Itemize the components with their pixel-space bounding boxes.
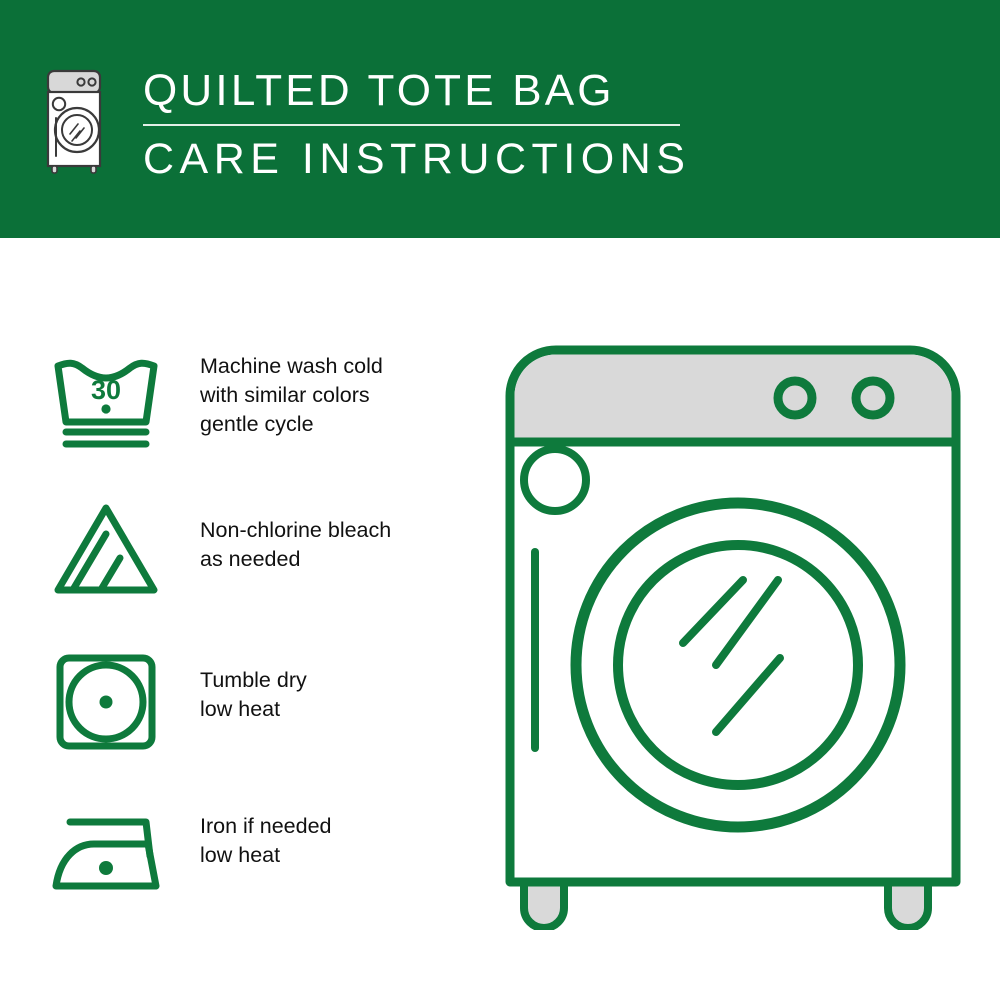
care-row-tumble-dry: Tumble dry low heat: [0, 646, 470, 796]
care-label-machine-wash: Machine wash cold with similar colors ge…: [200, 352, 383, 439]
wash-tub-30-icon: 30: [50, 348, 162, 460]
washing-machine-icon: [45, 68, 103, 174]
care-row-bleach: Non-chlorine bleach as needed: [0, 496, 470, 646]
page-subtitle: CARE INSTRUCTIONS: [143, 134, 703, 184]
tumble-dry-low-icon: [50, 646, 162, 758]
header-banner: QUILTED TOTE BAG CARE INSTRUCTIONS: [0, 0, 1000, 238]
care-instruction-list: 30 Machine wash cold with similar colors…: [0, 238, 470, 1000]
page-title: QUILTED TOTE BAG: [143, 66, 703, 116]
care-row-iron: Iron if needed low heat: [0, 794, 470, 944]
header-title-block: QUILTED TOTE BAG CARE INSTRUCTIONS: [143, 66, 703, 184]
wash-temperature-value: 30: [91, 375, 121, 405]
care-label-iron: Iron if needed low heat: [200, 812, 332, 870]
bleach-triangle-icon: [50, 496, 162, 608]
care-label-tumble-dry: Tumble dry low heat: [200, 666, 307, 724]
care-label-bleach: Non-chlorine bleach as needed: [200, 516, 391, 574]
iron-low-heat-icon: [50, 794, 162, 906]
title-divider: [143, 124, 680, 126]
care-row-machine-wash: 30 Machine wash cold with similar colors…: [0, 348, 470, 498]
front-load-washing-machine-illustration: [488, 330, 978, 930]
